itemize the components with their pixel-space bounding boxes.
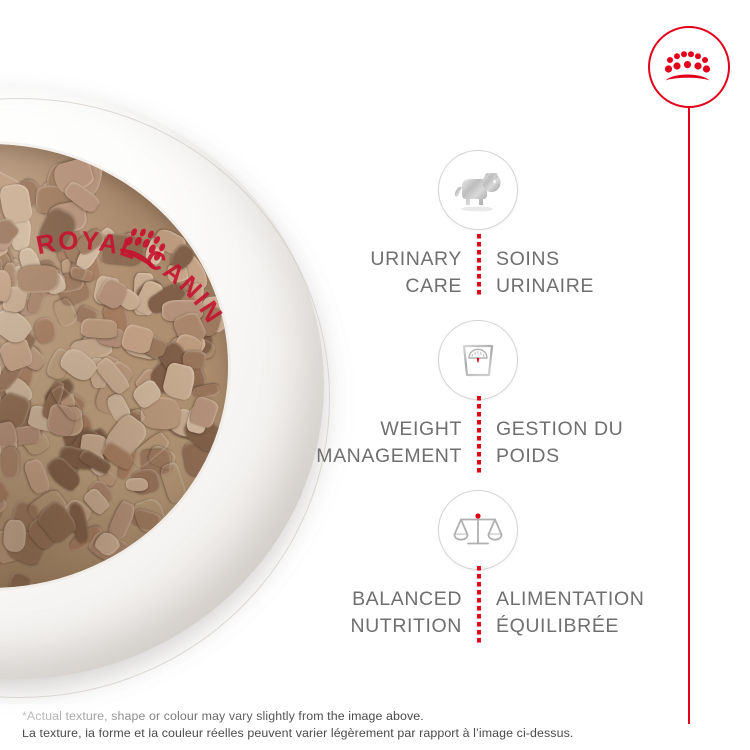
benefit-label-fr: ALIMENTATION ÉQUILIBRÉE xyxy=(478,586,680,640)
footnote-line-fr: La texture, la forme et la couleur réell… xyxy=(22,725,662,742)
meat-chunks xyxy=(0,144,228,588)
balance-scales-icon xyxy=(438,490,518,570)
benefit-labels: BALANCED NUTRITION ALIMENTATION ÉQUILIBR… xyxy=(300,586,680,640)
benefit-label-fr: SOINS URINAIRE xyxy=(478,246,680,300)
food-contents xyxy=(0,144,228,588)
benefit-labels: WEIGHT MANAGEMENT GESTION DU POIDS xyxy=(300,416,680,470)
benefit-row-balanced-nutrition: BALANCED NUTRITION ALIMENTATION ÉQUILIBR… xyxy=(300,490,680,660)
benefit-labels: URINARY CARE SOINS URINAIRE xyxy=(300,246,680,300)
benefit-label-en: URINARY CARE xyxy=(300,246,478,300)
bathroom-weight-scale-icon xyxy=(438,320,518,400)
product-benefit-panel: ROYAL CANIN xyxy=(0,0,750,750)
footnote-line-en: *Actual texture, shape or colour may var… xyxy=(22,708,662,725)
benefit-label-en: WEIGHT MANAGEMENT xyxy=(300,416,478,470)
benefits-list: URINARY CARE SOINS URINAIRE xyxy=(300,150,680,660)
royal-canin-logo-badge xyxy=(648,26,730,108)
benefit-label-en: BALANCED NUTRITION xyxy=(300,586,478,640)
benefit-row-urinary-care: URINARY CARE SOINS URINAIRE xyxy=(300,150,680,320)
footnote: *Actual texture, shape or colour may var… xyxy=(22,708,662,741)
royal-canin-crown-icon xyxy=(663,50,715,84)
puppy-dog-icon xyxy=(438,150,518,230)
product-photo: ROYAL CANIN xyxy=(0,88,340,708)
benefit-row-weight-management: WEIGHT MANAGEMENT GESTION DU POIDS xyxy=(300,320,680,490)
logo-vertical-rule xyxy=(688,108,690,724)
benefit-label-fr: GESTION DU POIDS xyxy=(478,416,680,470)
